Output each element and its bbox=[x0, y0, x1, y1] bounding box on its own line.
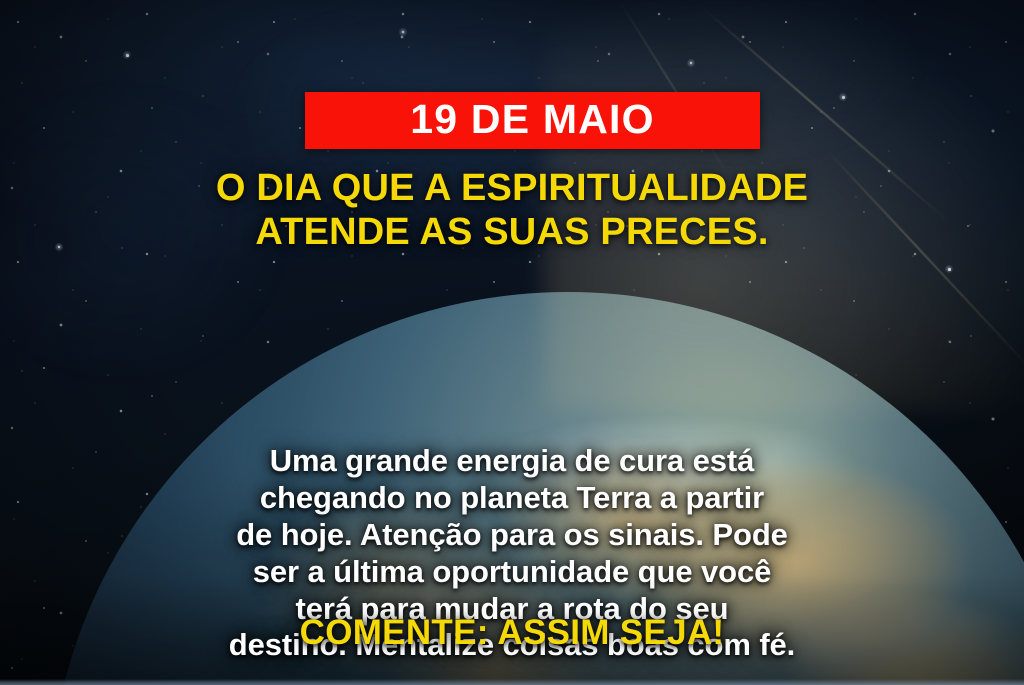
poster-canvas: 19 DE MAIO O DIA QUE A ESPIRITUALIDADE A… bbox=[0, 0, 1024, 685]
body-copy-line-3: de hoje. Atenção para os sinais. Pode bbox=[44, 517, 980, 554]
date-banner: 19 DE MAIO bbox=[305, 92, 760, 149]
poster-content: 19 DE MAIO O DIA QUE A ESPIRITUALIDADE A… bbox=[0, 0, 1024, 685]
body-copy-line-1: Uma grande energia de cura está bbox=[44, 443, 980, 480]
headline: O DIA QUE A ESPIRITUALIDADE ATENDE AS SU… bbox=[0, 166, 1024, 254]
headline-line-1: O DIA QUE A ESPIRITUALIDADE bbox=[52, 166, 972, 210]
headline-line-2: ATENDE AS SUAS PRECES. bbox=[52, 210, 972, 254]
body-copy-line-2: chegando no planeta Terra a partir bbox=[44, 480, 980, 517]
body-copy-line-4: ser a última oportunidade que você bbox=[44, 554, 980, 591]
call-to-action-text: COMENTE: ASSIM SEJA! bbox=[0, 614, 1024, 653]
date-banner-label: 19 DE MAIO bbox=[410, 99, 654, 140]
